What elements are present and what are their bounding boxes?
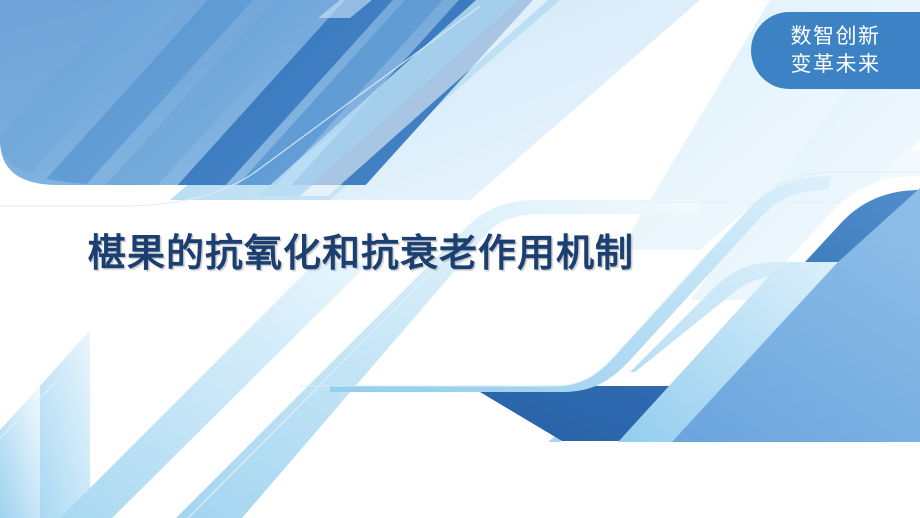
title-slide: 数智创新 变革未来 椹果的抗氧化和抗衰老作用机制: [0, 0, 920, 518]
badge-line-2: 变革未来: [791, 51, 881, 79]
top-left-shape-group: [0, 0, 700, 230]
brand-badge: 数智创新 变革未来: [751, 12, 920, 89]
badge-line-1: 数智创新: [791, 23, 881, 51]
page-title: 椹果的抗氧化和抗衰老作用机制: [88, 231, 634, 279]
title-block: 椹果的抗氧化和抗衰老作用机制: [88, 231, 634, 279]
